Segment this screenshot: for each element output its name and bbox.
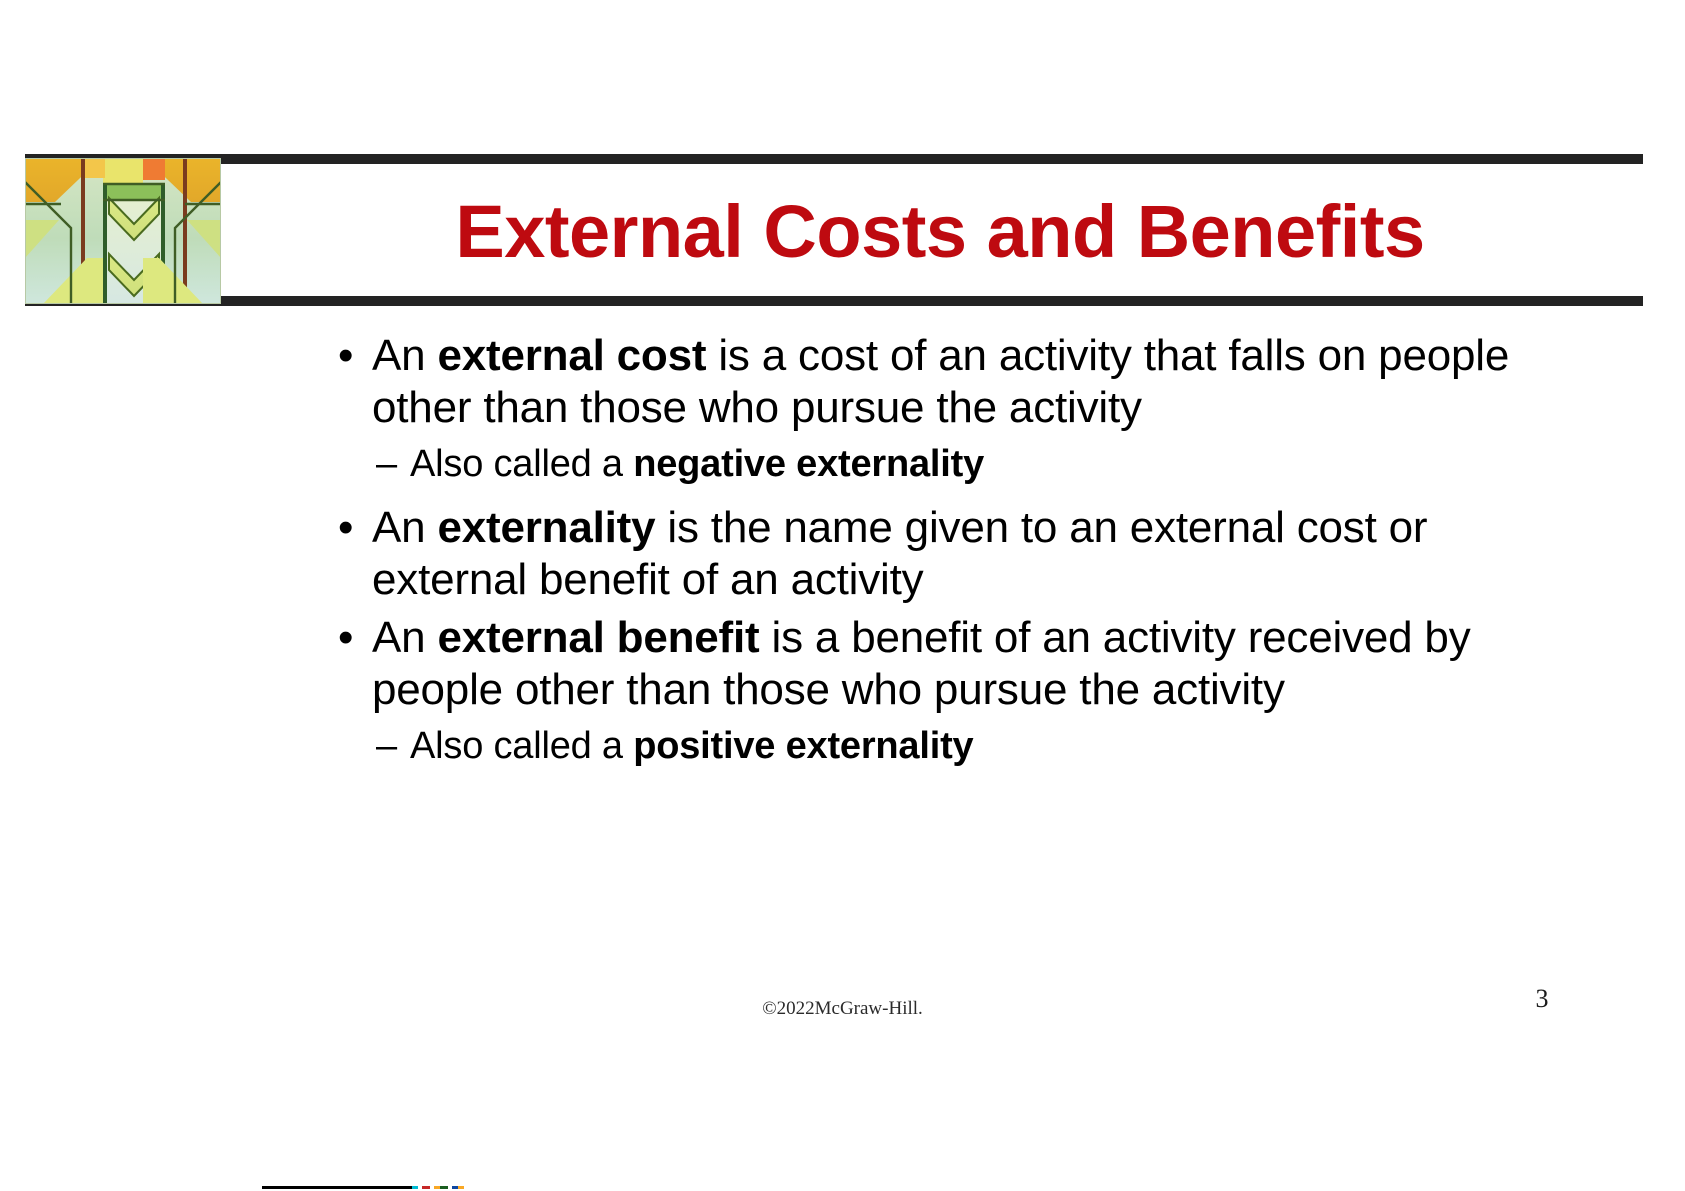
sub-bullet-item: –Also called a negative externality (332, 440, 1512, 488)
bullet-text: An external cost is a cost of an activit… (372, 331, 1509, 432)
bottom-edge-color-speck (412, 1186, 464, 1189)
bullet-text: An external benefit is a benefit of an a… (372, 613, 1471, 714)
header-rule-top (25, 154, 1643, 164)
slide-body: •An external cost is a cost of an activi… (332, 330, 1512, 784)
bullet-text: An externality is the name given to an e… (372, 503, 1427, 604)
sub-bullet-item: –Also called a positive externality (332, 722, 1512, 770)
slide-header: External Costs and Benefits (0, 0, 1685, 330)
copyright-notice: ©2022McGraw-Hill. (0, 998, 1685, 1020)
bullet-text: Also called a negative externality (410, 443, 984, 485)
bullet-text: Also called a positive externality (410, 725, 973, 767)
slide: External Costs and Benefits •An external… (0, 0, 1685, 1191)
bullet-item: •An external benefit is a benefit of an … (332, 612, 1512, 716)
bullet-marker-icon: • (338, 330, 353, 382)
bottom-edge-artifact (262, 1186, 412, 1189)
header-rule-bottom (25, 296, 1643, 306)
dash-marker-icon: – (376, 440, 397, 488)
bullet-item: •An externality is the name given to an … (332, 502, 1512, 606)
bullet-marker-icon: • (338, 502, 353, 554)
stained-glass-motif-icon (25, 158, 221, 304)
page-title: External Costs and Benefits (230, 176, 1650, 288)
bullet-marker-icon: • (338, 612, 353, 664)
page-number: 3 (1522, 984, 1562, 1014)
dash-marker-icon: – (376, 722, 397, 770)
bullet-list: •An external cost is a cost of an activi… (332, 330, 1512, 770)
bullet-item: •An external cost is a cost of an activi… (332, 330, 1512, 434)
